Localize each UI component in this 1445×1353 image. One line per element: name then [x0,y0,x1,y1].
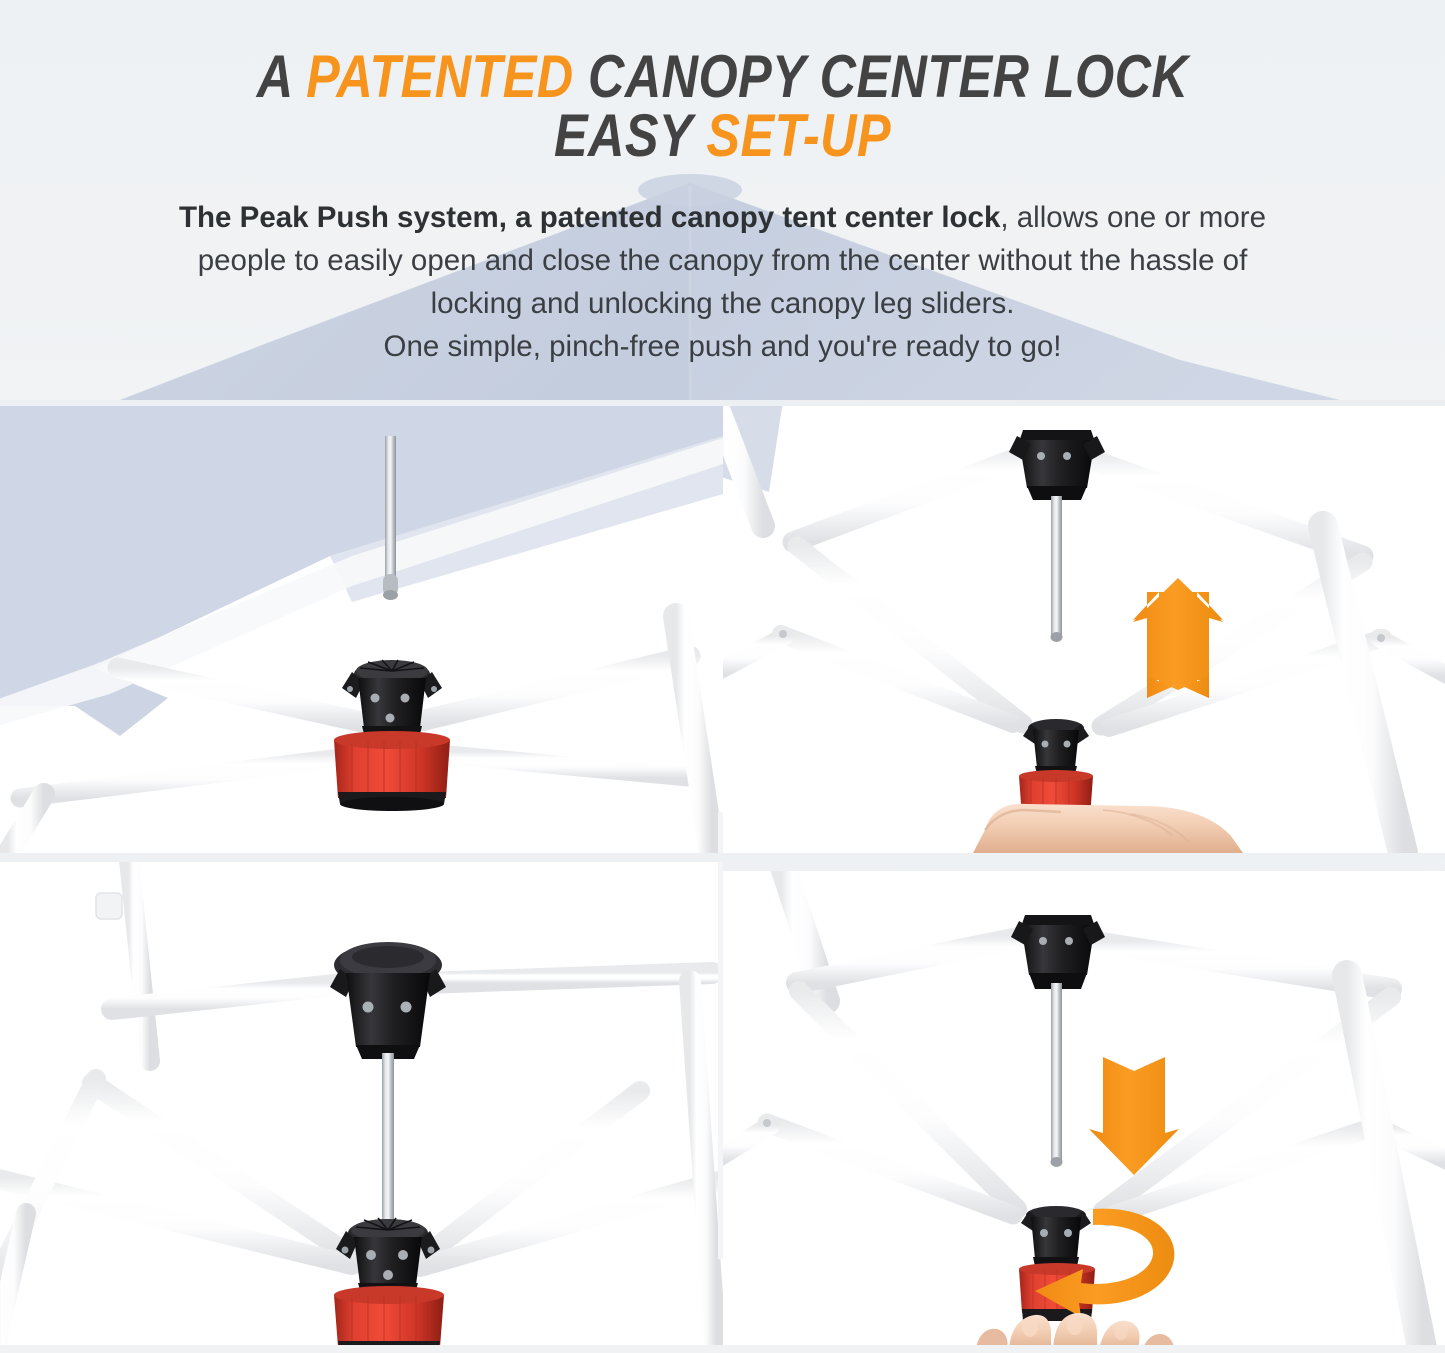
red-collar [334,1286,444,1351]
headline-line-1: A PATENTED CANOPY CENTER LOCK [116,48,1330,107]
body-line-2: people to easily open and close the cano… [0,239,1445,282]
headline-line-2: EASY SET-UP [116,107,1330,166]
body-line1-bold: The Peak Push system, a patented canopy … [179,201,1000,234]
push-up-illustration [723,406,1445,853]
pole-joint-left [779,630,787,638]
push-rod [1051,983,1063,1167]
panel-seam-horizontal [0,853,1445,862]
headline-line2-lead: EASY [554,102,706,169]
bottom-edge-band [0,1345,1445,1353]
panel-release-and-lower-step [723,871,1445,1353]
headline-line1-tail: CANOPY CENTER LOCK [574,43,1189,110]
pole-joint-left [763,1119,771,1127]
push-rod [383,436,398,600]
headline-accent-patented: PATENTED [306,43,574,110]
headline-line1-lead: A [257,43,306,110]
panel-seam-vertical [718,812,723,1259]
photo-grid [0,406,1445,1353]
headline-accent-setup: SET-UP [706,102,891,169]
panel-push-up-step [723,406,1445,853]
body-line1-rest: , allows one or more [1000,201,1266,234]
red-collar [334,731,450,811]
lock-engaged-illustration [0,861,723,1353]
pole-clip [96,893,122,919]
headline-block: A PATENTED CANOPY CENTER LOCK EASY SET-U… [0,48,1445,166]
push-rod [1051,496,1063,642]
body-line-4: One simple, pinch-free push and you're r… [0,325,1445,368]
panel-canopy-open-overview [0,406,723,853]
header-section: A PATENTED CANOPY CENTER LOCK EASY SET-U… [0,0,1445,400]
body-line-3: locking and unlocking the canopy leg sli… [0,282,1445,325]
panel-lock-engaged-detail [0,861,723,1353]
push-rod [382,1053,394,1235]
body-copy-block: The Peak Push system, a patented canopy … [0,196,1445,368]
body-line-1: The Peak Push system, a patented canopy … [0,196,1445,239]
pole-joint-right [1377,634,1385,642]
canopy-open-illustration [0,406,723,853]
release-lower-illustration [723,871,1445,1353]
